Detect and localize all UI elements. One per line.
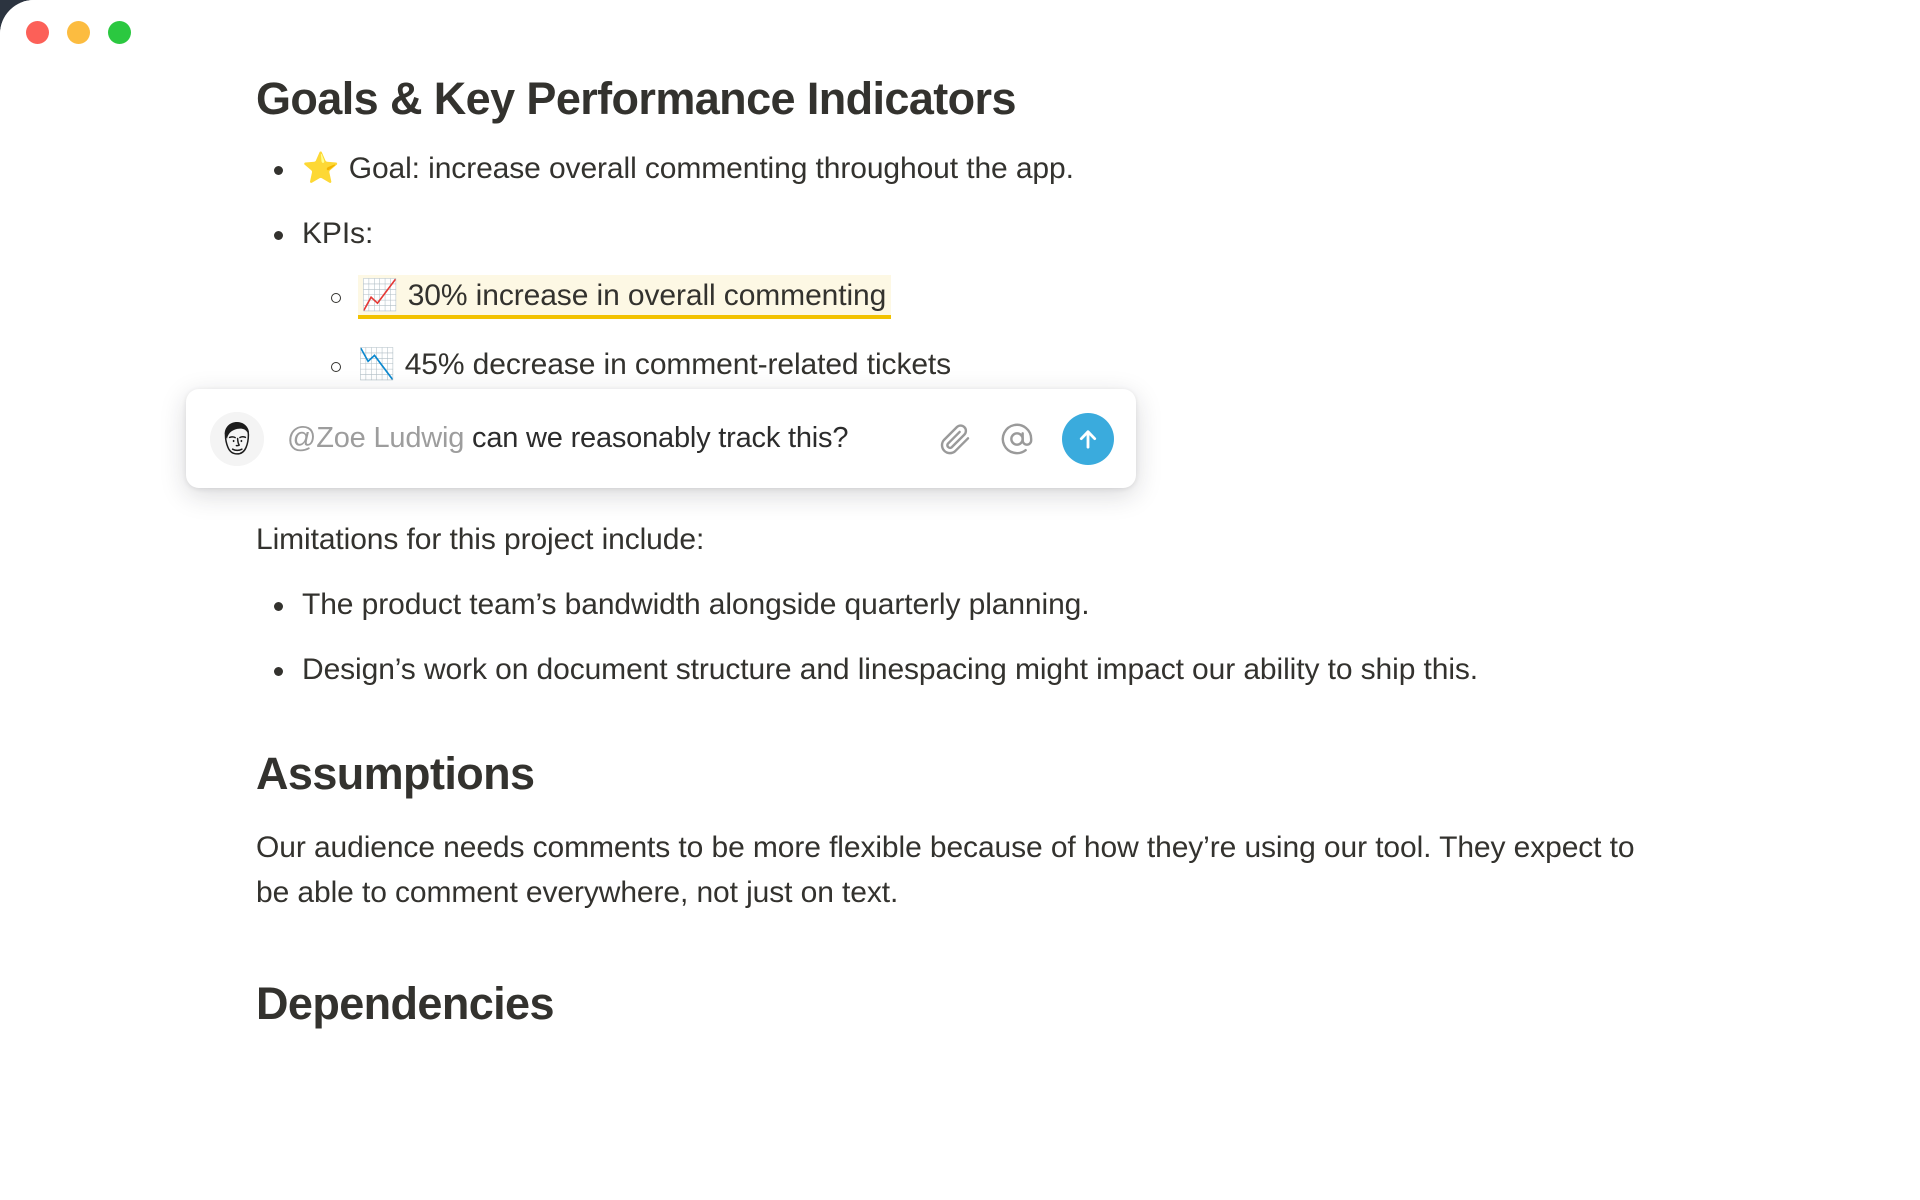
constraints-intro-text: Limitations for this project include: bbox=[256, 518, 1800, 562]
app-window: Goals & Key Performance Indicators ⭐ Goa… bbox=[0, 0, 1920, 1200]
send-button[interactable] bbox=[1062, 413, 1114, 465]
comment-input[interactable]: @Zoe Ludwig can we reasonably track this… bbox=[264, 421, 924, 456]
paperclip-icon bbox=[938, 422, 972, 456]
list-item-label: The product team’s bandwidth alongside q… bbox=[302, 588, 1090, 621]
minimize-window-button[interactable] bbox=[67, 21, 90, 44]
close-window-button[interactable] bbox=[26, 21, 49, 44]
list-item-label: Design’s work on document structure and … bbox=[302, 653, 1478, 686]
list-item-label: Goal: increase overall commenting throug… bbox=[349, 152, 1074, 185]
list-item[interactable]: Design’s work on document structure and … bbox=[256, 649, 1800, 692]
assumptions-body-text: Our audience needs comments to be more f… bbox=[256, 826, 1656, 915]
list-item[interactable]: ⭐ Goal: increase overall commenting thro… bbox=[256, 148, 1800, 191]
comment-action-bar bbox=[924, 408, 1114, 470]
star-icon: ⭐ bbox=[302, 151, 349, 186]
list-item-label: 30% increase in overall commenting bbox=[408, 279, 887, 312]
list-item[interactable]: The product team’s bandwidth alongside q… bbox=[256, 584, 1800, 627]
constraints-bullet-list: The product team’s bandwidth alongside q… bbox=[256, 584, 1800, 691]
chart-decreasing-icon: 📉 bbox=[358, 347, 405, 382]
at-sign-icon bbox=[1000, 422, 1034, 456]
comment-composer-popup[interactable]: @Zoe Ludwig can we reasonably track this… bbox=[186, 389, 1136, 488]
list-item[interactable]: KPIs: bbox=[256, 213, 1800, 256]
commented-text-highlight[interactable]: 📈 30% increase in overall commenting bbox=[358, 275, 891, 319]
comment-body-text: can we reasonably track this? bbox=[464, 422, 848, 454]
arrow-up-icon bbox=[1075, 426, 1101, 452]
mention-token[interactable]: @Zoe Ludwig bbox=[287, 422, 464, 454]
window-titlebar bbox=[0, 0, 1920, 72]
page-title: Goals & Key Performance Indicators bbox=[256, 72, 1800, 125]
avatar bbox=[210, 412, 264, 466]
traffic-light-controls bbox=[26, 21, 131, 44]
list-item[interactable]: 📈 30% increase in overall commenting bbox=[312, 275, 1800, 318]
list-item[interactable]: 📉 45% decrease in comment-related ticket… bbox=[312, 344, 1800, 387]
document-canvas[interactable]: Goals & Key Performance Indicators ⭐ Goa… bbox=[0, 72, 1920, 1200]
section-heading-dependencies: Dependencies bbox=[256, 977, 1800, 1030]
section-heading-assumptions: Assumptions bbox=[256, 747, 1800, 800]
chart-increasing-icon: 📈 bbox=[361, 278, 408, 313]
list-item-label: KPIs: bbox=[302, 217, 373, 250]
list-item-label: 45% decrease in comment-related tickets bbox=[405, 348, 951, 381]
maximize-window-button[interactable] bbox=[108, 21, 131, 44]
attach-file-button[interactable] bbox=[924, 408, 986, 470]
mention-button[interactable] bbox=[986, 408, 1048, 470]
goals-bullet-list: ⭐ Goal: increase overall commenting thro… bbox=[256, 148, 1800, 255]
kpi-sub-bullet-list: 📈 30% increase in overall commenting 📉 4… bbox=[312, 275, 1800, 386]
